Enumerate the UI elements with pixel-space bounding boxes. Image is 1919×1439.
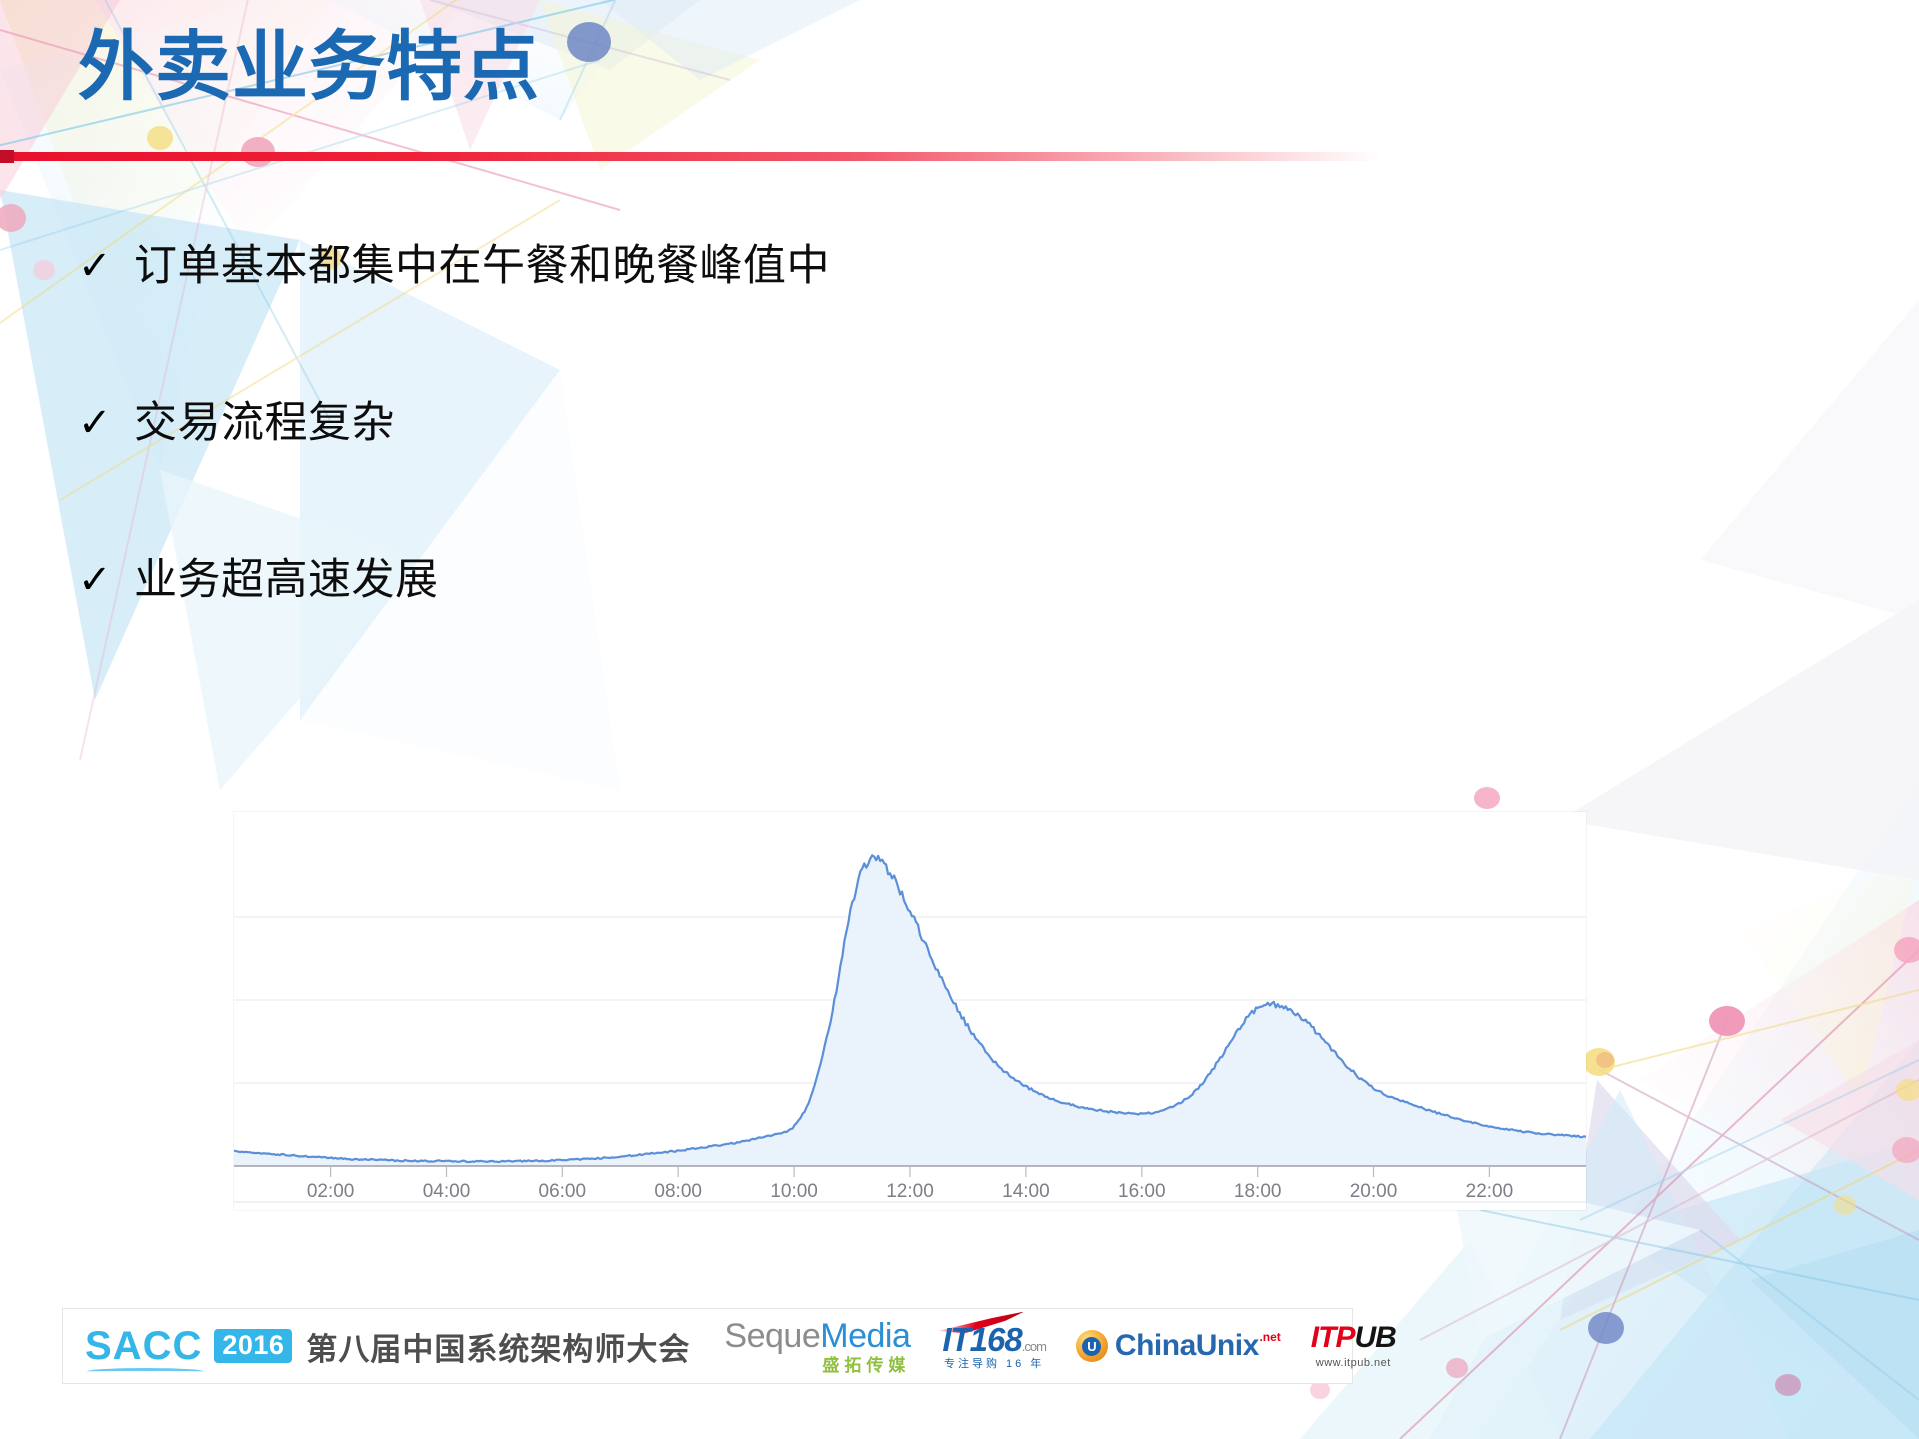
decorative-polygon-background [0, 0, 1919, 1439]
x-axis-tick-label: 04:00 [423, 1181, 471, 1202]
list-item-label: 业务超高速发展 [134, 552, 439, 608]
list-item-label: 交易流程复杂 [134, 395, 395, 451]
list-item: ✓ 交易流程复杂 [74, 395, 1274, 457]
x-axis-tick-label: 14:00 [1002, 1181, 1050, 1202]
sacc-underline-swoosh [87, 1368, 204, 1375]
it168-wordmark: IT168.com [942, 1323, 1046, 1356]
chinaunix-domain-text: .net [1259, 1330, 1280, 1344]
it168-domain-text: .com [1022, 1339, 1046, 1354]
sequemedia-wordmark: SequeMedia [724, 1319, 910, 1353]
list-item-label: 订单基本都集中在午餐和晚餐峰值中 [134, 238, 830, 294]
itpub-ub-text: UB [1354, 1321, 1395, 1354]
chinaunix-u-glyph: U [1082, 1337, 1101, 1356]
bullet-list: ✓ 订单基本都集中在午餐和晚餐峰值中 ✓ 交易流程复杂 ✓ 业务超高速发展 [74, 238, 1274, 709]
title-underline-cap [0, 150, 14, 163]
sacc-logo: SACC 2016 第八届中国系统架构师大会 [63, 1324, 690, 1369]
x-axis-tick-label: 06:00 [539, 1181, 587, 1202]
sequemedia-chinese-name: 盛拓传媒 [822, 1357, 910, 1374]
check-icon: ✓ [74, 238, 134, 294]
x-axis-tick-label: 20:00 [1350, 1181, 1398, 1202]
x-axis-tick-label: 22:00 [1466, 1181, 1514, 1202]
chinaunix-logo: U ChinaUnix .net [1076, 1329, 1259, 1363]
sacc-word-text: SACC [85, 1324, 202, 1368]
check-icon: ✓ [74, 395, 134, 451]
x-axis-tick-label: 02:00 [307, 1181, 355, 1202]
chart-svg: 02:0004:0006:0008:0010:0012:0014:0016:00… [234, 812, 1586, 1210]
sacc-wordmark: SACC [85, 1326, 202, 1366]
list-item: ✓ 订单基本都集中在午餐和晚餐峰值中 [74, 238, 1274, 300]
itpub-p-text: P [1335, 1321, 1354, 1354]
it168-name-text: IT168 [942, 1321, 1021, 1358]
sequemedia-word-part1: Seque [724, 1317, 820, 1355]
chinaunix-mark-icon: U [1076, 1330, 1108, 1362]
itpub-wordmark: ITPUB [1311, 1323, 1396, 1353]
sacc-conference-title: 第八届中国系统架构师大会 [306, 1324, 690, 1369]
order-volume-chart: 02:0004:0006:0008:0010:0012:0014:0016:00… [234, 812, 1586, 1210]
chinaunix-wordmark: ChinaUnix .net [1115, 1329, 1259, 1363]
title-underline-rule [0, 152, 1380, 161]
it168-logo: IT168.com 专注导购 16 年 [942, 1323, 1046, 1370]
chinaunix-name-text: ChinaUnix [1115, 1329, 1259, 1362]
x-axis-tick-label: 18:00 [1234, 1181, 1282, 1202]
sequemedia-word-part2: Media [820, 1317, 910, 1355]
sequemedia-logo: SequeMedia 盛拓传媒 [724, 1319, 910, 1374]
check-icon: ✓ [74, 552, 134, 608]
itpub-it-text: IT [1311, 1321, 1336, 1354]
x-axis-tick-label: 16:00 [1118, 1181, 1166, 1202]
list-item: ✓ 业务超高速发展 [74, 552, 1274, 614]
sacc-year-badge: 2016 [214, 1329, 292, 1363]
slide-canvas: 外卖业务特点 ✓ 订单基本都集中在午餐和晚餐峰值中 ✓ 交易流程复杂 ✓ 业务超… [0, 0, 1919, 1439]
x-axis-tick-label: 08:00 [654, 1181, 702, 1202]
itpub-logo: ITPUB www.itpub.net [1311, 1323, 1396, 1369]
x-axis-tick-label: 10:00 [770, 1181, 818, 1202]
itpub-url: www.itpub.net [1316, 1358, 1391, 1369]
page-title: 外卖业务特点 [78, 26, 540, 110]
footer-sponsor-bar: SACC 2016 第八届中国系统架构师大会 SequeMedia 盛拓传媒 I… [62, 1308, 1353, 1384]
it168-tagline: 专注导购 16 年 [944, 1359, 1044, 1370]
x-axis-tick-label: 12:00 [886, 1181, 934, 1202]
